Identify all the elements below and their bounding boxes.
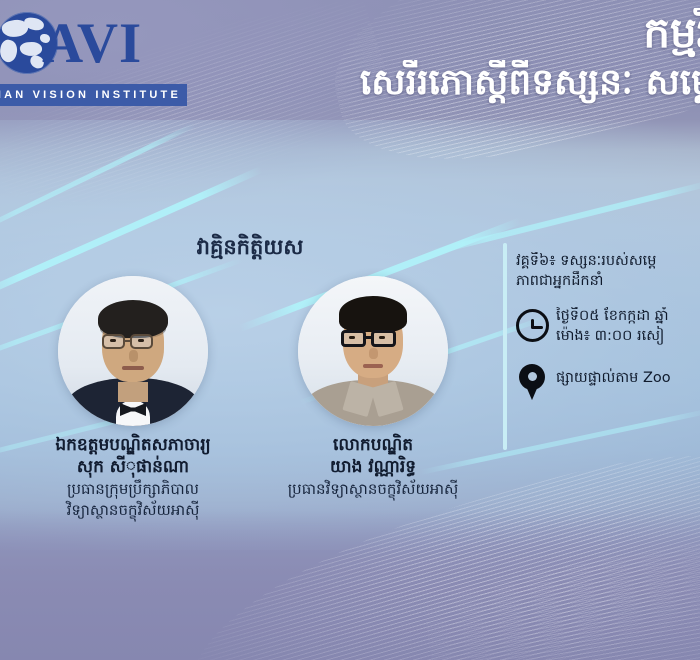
avatar [298, 276, 448, 426]
datetime-row: ថ្ងៃទី០៥ ខែកក្កដា ឆ្នាំ ម៉ោង៖ ៣:០០ រសៀ [516, 307, 700, 347]
logo-subtitle-bar: ASIAN VISION INSTITUTE [0, 84, 187, 106]
speaker-role-line-1: ប្រធានក្រុមប្រឹក្សាភិបាល [8, 480, 258, 500]
location-pin-icon [516, 363, 556, 403]
title-line-2: សេរីរភោស្ដីពីទស្សនៈ សម្ដេ [186, 60, 700, 105]
event-details-panel: វគ្គទី៦៖ ទស្សនៈរបស់សម្ដេ ភាពជាអ្នកដឹកនាំ… [516, 252, 700, 419]
avi-logo: AVI ASIAN VISION INSTITUTE [0, 6, 187, 114]
speaker-name: សុក សីុផាន់ណា [8, 456, 258, 478]
venue-row: ផ្សាយផ្ទាល់តាម Zoo [516, 363, 700, 403]
speaker-honorific: លោកបណ្ឌិត [248, 435, 498, 456]
speaker-honorific: ឯកឧត្តមបណ្ឌិតសភាចារ្យ [8, 435, 258, 456]
background-bottom-band [0, 510, 700, 660]
event-date: ថ្ងៃទី០៥ ខែកក្កដា ឆ្នាំ [556, 307, 669, 327]
session-topic-line-2: ភាពជាអ្នកដឹកនាំ [516, 272, 656, 292]
title-line-1: កម្មវិ [186, 8, 700, 58]
vertical-divider [503, 243, 507, 450]
poster-title: កម្មវិ សេរីរភោស្ដីពីទស្សនៈ សម្ដេ [186, 8, 700, 105]
session-topic-row: វគ្គទី៦៖ ទស្សនៈរបស់សម្ដេ ភាពជាអ្នកដឹកនាំ [516, 252, 700, 291]
logo-subtitle-text: ASIAN VISION INSTITUTE [0, 89, 181, 101]
speakers-heading: វាគ្មិនកិត្តិយស [0, 234, 500, 265]
speaker-role-line-1: ប្រធានវិទ្យាស្ថានចក្ខុវិស័យអាសុី [248, 480, 498, 500]
session-topic-line-1: វគ្គទី៦៖ ទស្សនៈរបស់សម្ដេ [516, 252, 656, 272]
speaker-name: យាង វណ្ណារិទ្ធ [248, 456, 498, 478]
speaker-card: ឯកឧត្តមបណ្ឌិតសភាចារ្យ សុក សីុផាន់ណា ប្រធ… [8, 276, 258, 521]
event-poster: AVI ASIAN VISION INSTITUTE កម្មវិ សេរីរភ… [0, 0, 700, 660]
event-time: ម៉ោង៖ ៣:០០ រសៀ [556, 327, 669, 347]
clock-icon [516, 307, 556, 347]
speaker-role-line-2: វិទ្យាស្ថានចក្ខុវិស័យអាសុី [8, 501, 258, 521]
event-venue: ផ្សាយផ្ទាល់តាម Zoo [556, 369, 671, 389]
speaker-card: លោកបណ្ឌិត យាង វណ្ណារិទ្ធ ប្រធានវិទ្យាស្ថ… [248, 276, 498, 499]
avatar [58, 276, 208, 426]
logo-wordmark: AVI [42, 15, 142, 72]
